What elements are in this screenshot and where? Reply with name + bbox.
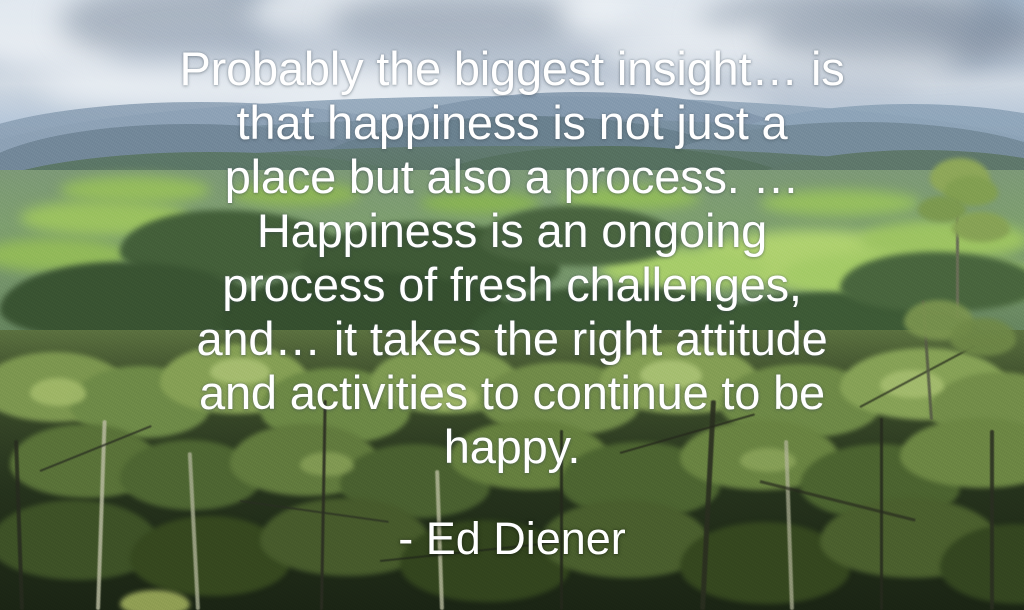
eucalyptus-crown xyxy=(950,318,1016,356)
quote-attribution: - Ed Diener xyxy=(162,514,862,564)
eucalyptus-trunk xyxy=(880,418,883,610)
quote-image-card: Probably the biggest insight… is that ha… xyxy=(0,0,1024,610)
canopy-highlight xyxy=(880,370,944,398)
eucalyptus-crown xyxy=(952,212,1010,242)
canopy-highlight xyxy=(30,378,86,406)
quote-text: Probably the biggest insight… is that ha… xyxy=(162,42,862,474)
eucalyptus-trunk xyxy=(990,430,994,610)
